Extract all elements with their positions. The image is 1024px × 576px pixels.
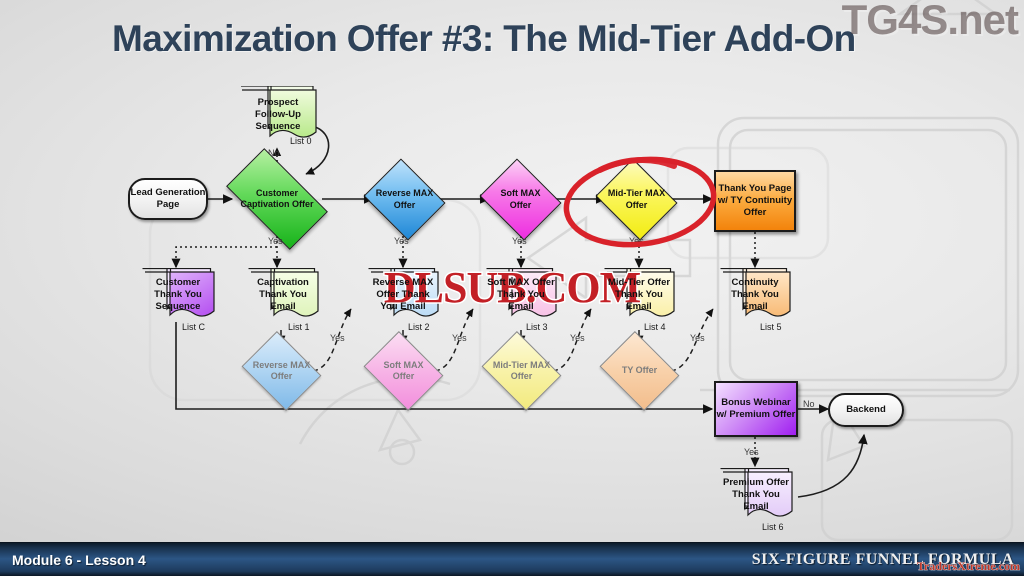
node-backend[interactable]: Backend	[828, 393, 904, 427]
edge-label-yes-soft: Yes	[512, 236, 527, 246]
node-customer-captivation-offer[interactable]: Customer Captivation Offer	[232, 172, 322, 226]
node-label: Bonus Webinar w/ Premium Offer	[716, 397, 796, 421]
node-reverse-max-offer-faded[interactable]: Reverse MAX Offer	[250, 346, 313, 396]
list-tag-6: List 6	[762, 522, 784, 532]
node-midtier-thank-you-email[interactable]: Mid-Tier Offer Thank You Email	[600, 268, 678, 322]
node-label: TY Offer	[608, 365, 671, 376]
node-label: Continuity Thank You Email	[716, 277, 794, 313]
node-label: Soft MAX Offer	[372, 360, 435, 383]
node-label: Reverse MAX Offer	[250, 360, 313, 383]
node-label: Reverse MAX Offer Thank You Email	[364, 277, 442, 313]
edge-label-yes-row2-c: Yes	[570, 333, 585, 343]
node-reverse-thank-you-email[interactable]: Reverse MAX Offer Thank You Email	[364, 268, 442, 322]
node-soft-max-offer-faded[interactable]: Soft MAX Offer	[372, 346, 435, 396]
node-thank-you-page[interactable]: Thank You Page w/ TY Continuity Offer	[714, 170, 796, 232]
node-mid-tier-max-offer[interactable]: Mid-Tier MAX Offer	[605, 173, 668, 226]
node-premium-thank-you-email[interactable]: Premium Offer Thank You Email	[716, 468, 796, 522]
slide-canvas: Maximization Offer #3: The Mid-Tier Add-…	[0, 0, 1024, 576]
node-soft-thank-you-email[interactable]: Soft MAX Offer Thank You Email	[482, 268, 560, 322]
node-label: Mid-Tier MAX Offer	[490, 360, 553, 383]
list-tag-4: List 4	[644, 322, 666, 332]
list-tag-5: List 5	[760, 322, 782, 332]
edge-label-yes-row2-a: Yes	[330, 333, 345, 343]
node-ty-offer-faded[interactable]: TY Offer	[608, 346, 671, 396]
node-lead-generation-page[interactable]: Lead Generation Page	[128, 178, 208, 220]
edge-label-no-backend: No	[803, 399, 815, 409]
funnel-flowchart: Lead Generation Page Prospect Follow-Up …	[0, 0, 1024, 576]
node-label: Lead Generation Page	[130, 187, 206, 210]
edge-label-yes-premium: Yes	[744, 447, 759, 457]
list-tag-3: List 3	[526, 322, 548, 332]
node-label: Mid-Tier Offer Thank You Email	[600, 277, 678, 313]
footer-bar: Module 6 - Lesson 4 SIX-FIGURE FUNNEL FO…	[0, 542, 1024, 576]
node-label: Soft MAX Offer Thank You Email	[482, 277, 560, 313]
node-captivation-thank-you-email[interactable]: Captivation Thank You Email	[244, 268, 322, 322]
footer-brand-label: SIX-FIGURE FUNNEL FORMULA	[752, 551, 1014, 569]
edge-label-yes-reverse: Yes	[394, 236, 409, 246]
node-continuity-thank-you-email[interactable]: Continuity Thank You Email	[716, 268, 794, 322]
node-label: Premium Offer Thank You Email	[716, 477, 796, 513]
edge-label-yes-row2-d: Yes	[690, 333, 705, 343]
node-label: Thank You Page w/ TY Continuity Offer	[716, 183, 794, 219]
list-tag-1: List 1	[288, 322, 310, 332]
edge-label-yes-captivation: Yes	[268, 236, 283, 246]
list-tag-c: List C	[182, 322, 205, 332]
node-label: Customer Captivation Offer	[232, 188, 322, 211]
node-label: Customer Thank You Sequence	[138, 277, 218, 313]
list-tag-2: List 2	[408, 322, 430, 332]
node-label: Soft MAX Offer	[489, 188, 552, 211]
edge-label-yes-row2-b: Yes	[452, 333, 467, 343]
list-tag-0: List 0	[290, 136, 312, 146]
node-customer-thank-you-sequence[interactable]: Customer Thank You Sequence	[138, 268, 218, 322]
node-reverse-max-offer[interactable]: Reverse MAX Offer	[373, 173, 436, 226]
node-label: Reverse MAX Offer	[373, 188, 436, 211]
node-label: Mid-Tier MAX Offer	[605, 188, 668, 211]
node-label: Prospect Follow-Up Sequence	[236, 97, 320, 133]
node-soft-max-offer[interactable]: Soft MAX Offer	[489, 173, 552, 226]
node-bonus-webinar[interactable]: Bonus Webinar w/ Premium Offer	[714, 381, 798, 437]
footer-module-label: Module 6 - Lesson 4	[12, 552, 146, 568]
node-label: Captivation Thank You Email	[244, 277, 322, 313]
node-mid-tier-max-offer-faded[interactable]: Mid-Tier MAX Offer	[490, 346, 553, 396]
edge-label-yes-midtier: Yes	[629, 236, 644, 246]
node-label: Backend	[846, 404, 886, 416]
